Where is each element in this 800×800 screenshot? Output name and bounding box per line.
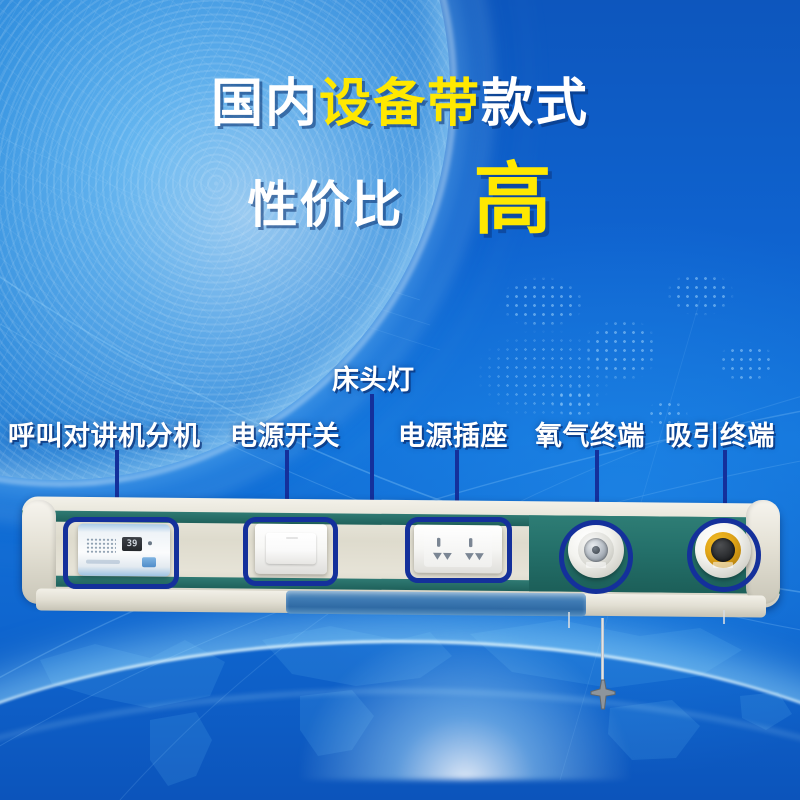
highlight-box-power-switch	[243, 517, 338, 586]
callout-label-oxygen-terminal: 氧气终端	[535, 414, 645, 453]
headline-text-value-ratio: 性价比	[247, 180, 403, 230]
headline-text-equipment-belt: 设备带	[319, 75, 481, 133]
callout-label-power-socket: 电源插座	[398, 414, 508, 453]
headline-text-style: 款式	[481, 75, 589, 133]
terminal-lanyard-right	[723, 610, 725, 624]
headline-line-1: 国内设备带款式	[0, 78, 800, 130]
callout-label-suction-terminal: 吸引终端	[665, 414, 775, 453]
horizon-glow-core	[300, 630, 630, 780]
product-promo-image: 国内设备带款式 性价比 高 呼叫对讲机分机 电源开关 床头灯 电源插座 氧气终端…	[0, 0, 800, 800]
highlight-circle-suction-terminal	[687, 518, 761, 592]
headline-text-high: 高	[473, 160, 552, 238]
cross-fitting-icon	[588, 678, 618, 712]
headline-block: 国内设备带款式 性价比 高	[0, 78, 800, 230]
callout-label-power-switch: 电源开关	[230, 414, 340, 453]
callout-label-nurse-call-intercom: 呼叫对讲机分机	[8, 414, 201, 453]
highlight-box-power-socket	[405, 517, 512, 583]
headline-line-2: 性价比 高	[0, 152, 800, 230]
headline-text-domestic: 国内	[211, 75, 319, 133]
highlight-circle-oxygen-terminal	[559, 520, 633, 594]
bedside-lamp-diffuser	[286, 591, 586, 617]
highlight-box-nurse-call-intercom	[63, 517, 179, 589]
callout-label-bedside-lamp: 床头灯	[332, 358, 415, 397]
terminal-lanyard-left	[568, 612, 570, 628]
